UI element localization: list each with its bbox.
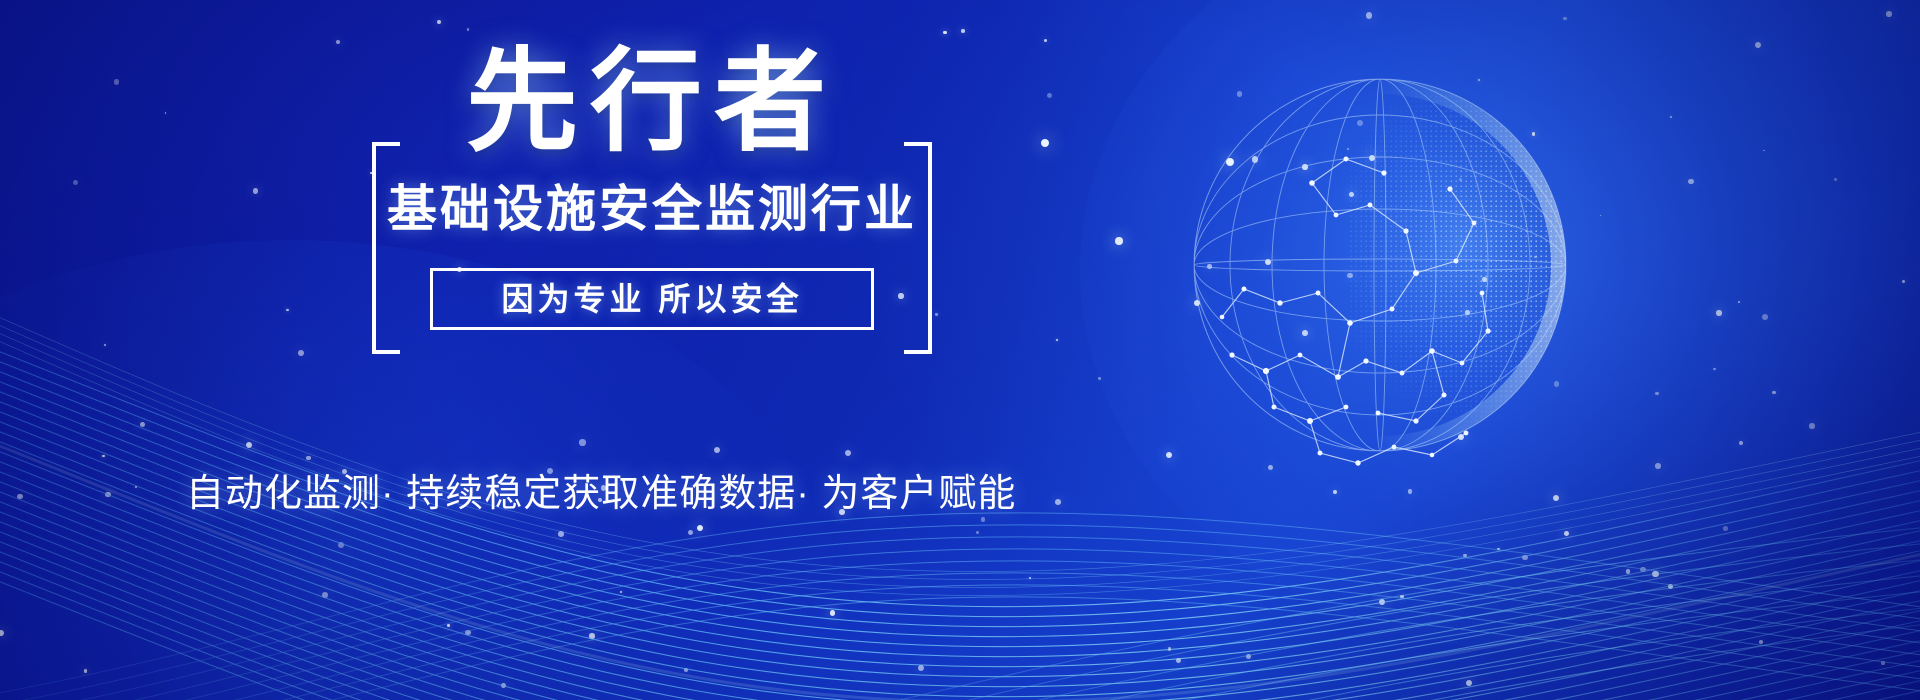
star-icon xyxy=(73,180,79,186)
star-icon xyxy=(286,309,288,311)
star-icon xyxy=(1554,381,1559,386)
page-subtitle: 基础设施安全监测行业 xyxy=(372,184,932,234)
star-icon xyxy=(1252,156,1258,162)
star-icon xyxy=(1166,452,1172,458)
star-icon xyxy=(1755,42,1761,48)
star-icon xyxy=(1670,116,1672,118)
star-icon xyxy=(1465,310,1470,315)
star-icon xyxy=(465,630,471,636)
star-icon xyxy=(140,422,145,427)
star-icon xyxy=(1041,139,1049,147)
star-icon xyxy=(1881,661,1885,665)
star-icon xyxy=(1098,377,1101,380)
star-icon xyxy=(1564,531,1569,536)
star-icon xyxy=(1207,264,1212,269)
star-icon xyxy=(1056,339,1058,341)
star-icon xyxy=(1738,301,1740,303)
star-icon xyxy=(467,28,469,30)
star-icon xyxy=(1194,300,1200,306)
star-icon xyxy=(1357,120,1363,126)
star-icon xyxy=(830,610,836,616)
page-title: 先行者 xyxy=(372,46,932,158)
star-icon xyxy=(102,455,104,457)
star-icon xyxy=(1044,39,1048,43)
star-icon xyxy=(981,517,986,522)
logo-block: 先行者 基础设施安全监测行业 因为专业 所以安全 xyxy=(372,58,932,348)
star-icon xyxy=(1237,91,1243,97)
star-icon xyxy=(1478,79,1480,81)
slogan-text: 自动化监测· 持续稳定获取准确数据· 为客户赋能 xyxy=(186,462,1016,517)
star-icon xyxy=(306,456,310,460)
star-icon xyxy=(1902,280,1905,283)
tagline-text: 因为专业 所以安全 xyxy=(502,283,803,315)
star-icon xyxy=(1522,555,1528,561)
star-icon xyxy=(1246,654,1251,659)
vignette-overlay xyxy=(0,0,1920,700)
star-icon xyxy=(1655,463,1660,468)
star-icon xyxy=(1772,391,1775,394)
star-icon xyxy=(165,112,167,114)
star-icon xyxy=(437,20,441,24)
star-icon xyxy=(845,450,851,456)
star-icon xyxy=(1688,179,1693,184)
star-icon xyxy=(1029,577,1031,579)
star-icon xyxy=(688,530,693,535)
star-icon xyxy=(1532,132,1536,136)
star-icon xyxy=(1723,526,1728,531)
star-icon xyxy=(1553,495,1559,501)
star-icon xyxy=(1809,423,1814,428)
star-icon xyxy=(1626,569,1630,573)
star-icon xyxy=(1759,640,1763,644)
star-icon xyxy=(1563,17,1566,20)
star-icon xyxy=(1369,155,1375,161)
star-icon xyxy=(1739,441,1744,446)
star-icon xyxy=(1463,554,1466,557)
star-icon xyxy=(0,630,4,636)
star-icon xyxy=(1716,310,1721,315)
star-icon xyxy=(943,31,946,34)
tagline-box: 因为专业 所以安全 xyxy=(430,268,874,330)
star-icon xyxy=(1655,392,1658,395)
star-icon xyxy=(104,344,106,346)
star-icon xyxy=(1497,548,1500,551)
star-icon xyxy=(1347,148,1349,150)
star-icon xyxy=(338,542,344,548)
star-icon xyxy=(1408,489,1413,494)
star-icon xyxy=(1466,680,1472,686)
star-icon xyxy=(1333,490,1337,494)
bracket-right-icon xyxy=(904,142,932,354)
star-icon xyxy=(1886,11,1891,16)
star-icon xyxy=(1226,158,1234,166)
star-icon xyxy=(1458,434,1465,441)
star-icon xyxy=(579,439,585,445)
star-icon xyxy=(918,665,924,671)
star-icon xyxy=(336,40,340,44)
star-icon xyxy=(1379,599,1385,605)
glow-blob-right-icon xyxy=(1080,0,1920,650)
star-icon xyxy=(1762,314,1768,320)
star-icon xyxy=(1302,164,1307,169)
hero-banner: 先行者 基础设施安全监测行业 因为专业 所以安全 自动化监测· 持续稳定获取准确… xyxy=(0,0,1920,700)
star-icon xyxy=(298,350,304,356)
star-icon xyxy=(1652,571,1658,577)
star-icon xyxy=(1400,595,1403,598)
star-icon xyxy=(105,492,110,497)
star-icon xyxy=(1176,658,1181,663)
star-icon xyxy=(1534,256,1537,259)
bracket-left-icon xyxy=(372,142,400,354)
star-icon xyxy=(620,591,622,593)
star-icon xyxy=(697,525,703,531)
star-icon xyxy=(322,592,328,598)
star-icon xyxy=(17,494,23,500)
star-icon xyxy=(1349,192,1354,197)
star-icon xyxy=(1302,330,1308,336)
star-icon xyxy=(684,668,688,672)
star-icon xyxy=(1268,465,1273,470)
wireframe-globe-icon xyxy=(1170,55,1590,475)
star-icon xyxy=(1055,499,1061,505)
star-icon xyxy=(714,447,720,453)
star-icon xyxy=(447,624,450,627)
star-icon xyxy=(1668,584,1673,589)
star-icon xyxy=(84,669,88,673)
star-icon xyxy=(1482,277,1487,282)
star-icon xyxy=(1168,647,1171,650)
star-icon xyxy=(961,29,965,33)
star-icon xyxy=(1366,12,1372,18)
star-icon xyxy=(558,531,564,537)
star-icon xyxy=(1047,93,1052,98)
star-icon xyxy=(976,531,979,534)
star-icon xyxy=(589,633,594,638)
star-icon xyxy=(501,683,506,688)
star-icon xyxy=(114,79,120,85)
star-icon xyxy=(135,486,137,488)
star-icon xyxy=(1763,150,1765,152)
flowing-wave-lines-icon xyxy=(0,0,1920,700)
star-icon xyxy=(1347,273,1352,278)
star-icon xyxy=(253,188,258,193)
star-icon xyxy=(1834,178,1837,181)
star-icon xyxy=(1115,237,1122,244)
star-icon xyxy=(246,442,252,448)
star-icon xyxy=(1265,259,1272,266)
star-icon xyxy=(1713,368,1715,370)
star-icon xyxy=(1459,178,1462,181)
star-icon xyxy=(1600,215,1602,217)
star-icon xyxy=(1640,567,1645,572)
star-icon xyxy=(935,313,937,315)
